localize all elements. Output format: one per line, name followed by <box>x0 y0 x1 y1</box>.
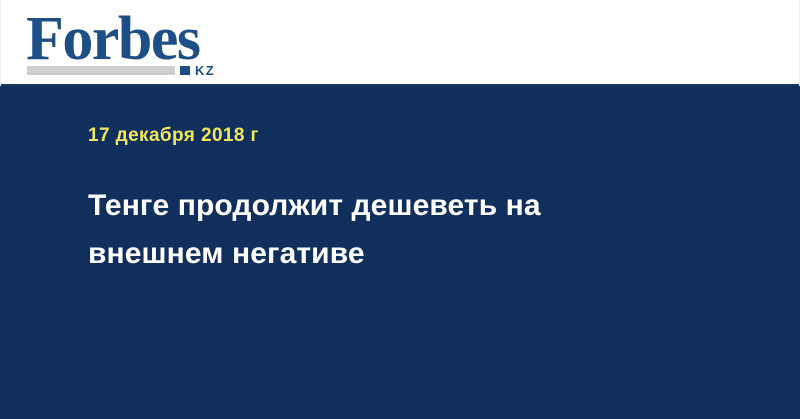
logo-locale-label: KZ <box>195 64 215 77</box>
article-date: 17 декабря 2018 г <box>88 125 688 147</box>
logo-rule-bar <box>27 66 175 75</box>
forbes-kz-logo[interactable]: Forbes KZ <box>26 8 246 80</box>
article-title[interactable]: Тенге продолжит дешеветь на внешнем нега… <box>88 182 658 278</box>
article-block: 17 декабря 2018 г Тенге продолжит дешеве… <box>88 125 688 298</box>
forbes-wordmark: Forbes <box>26 8 200 70</box>
article-share-card: Forbes KZ 17 декабря 2018 г Тенге продол… <box>0 0 800 419</box>
masthead: Forbes KZ <box>0 0 800 86</box>
logo-square-icon <box>180 66 190 75</box>
masthead-left-edge <box>0 0 1 86</box>
